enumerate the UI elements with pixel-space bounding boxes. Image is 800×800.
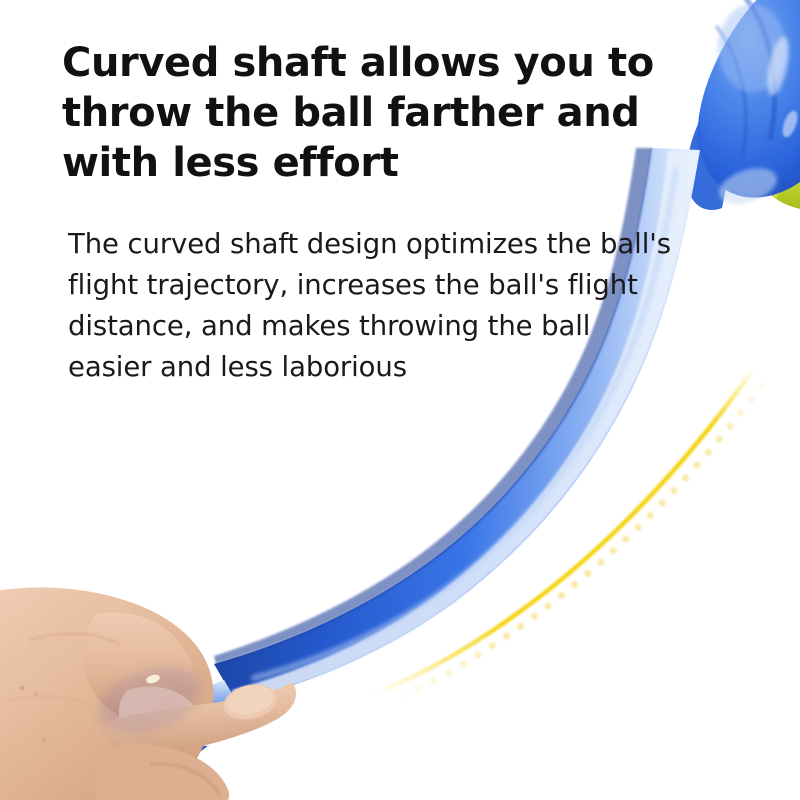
product-photo — [0, 0, 800, 800]
skin-mark-2 — [34, 692, 38, 696]
skin-mark-3 — [42, 738, 46, 742]
product-feature-image: Curved shaft allows you to throw the bal… — [0, 0, 800, 800]
skin-mark-1 — [20, 686, 25, 691]
